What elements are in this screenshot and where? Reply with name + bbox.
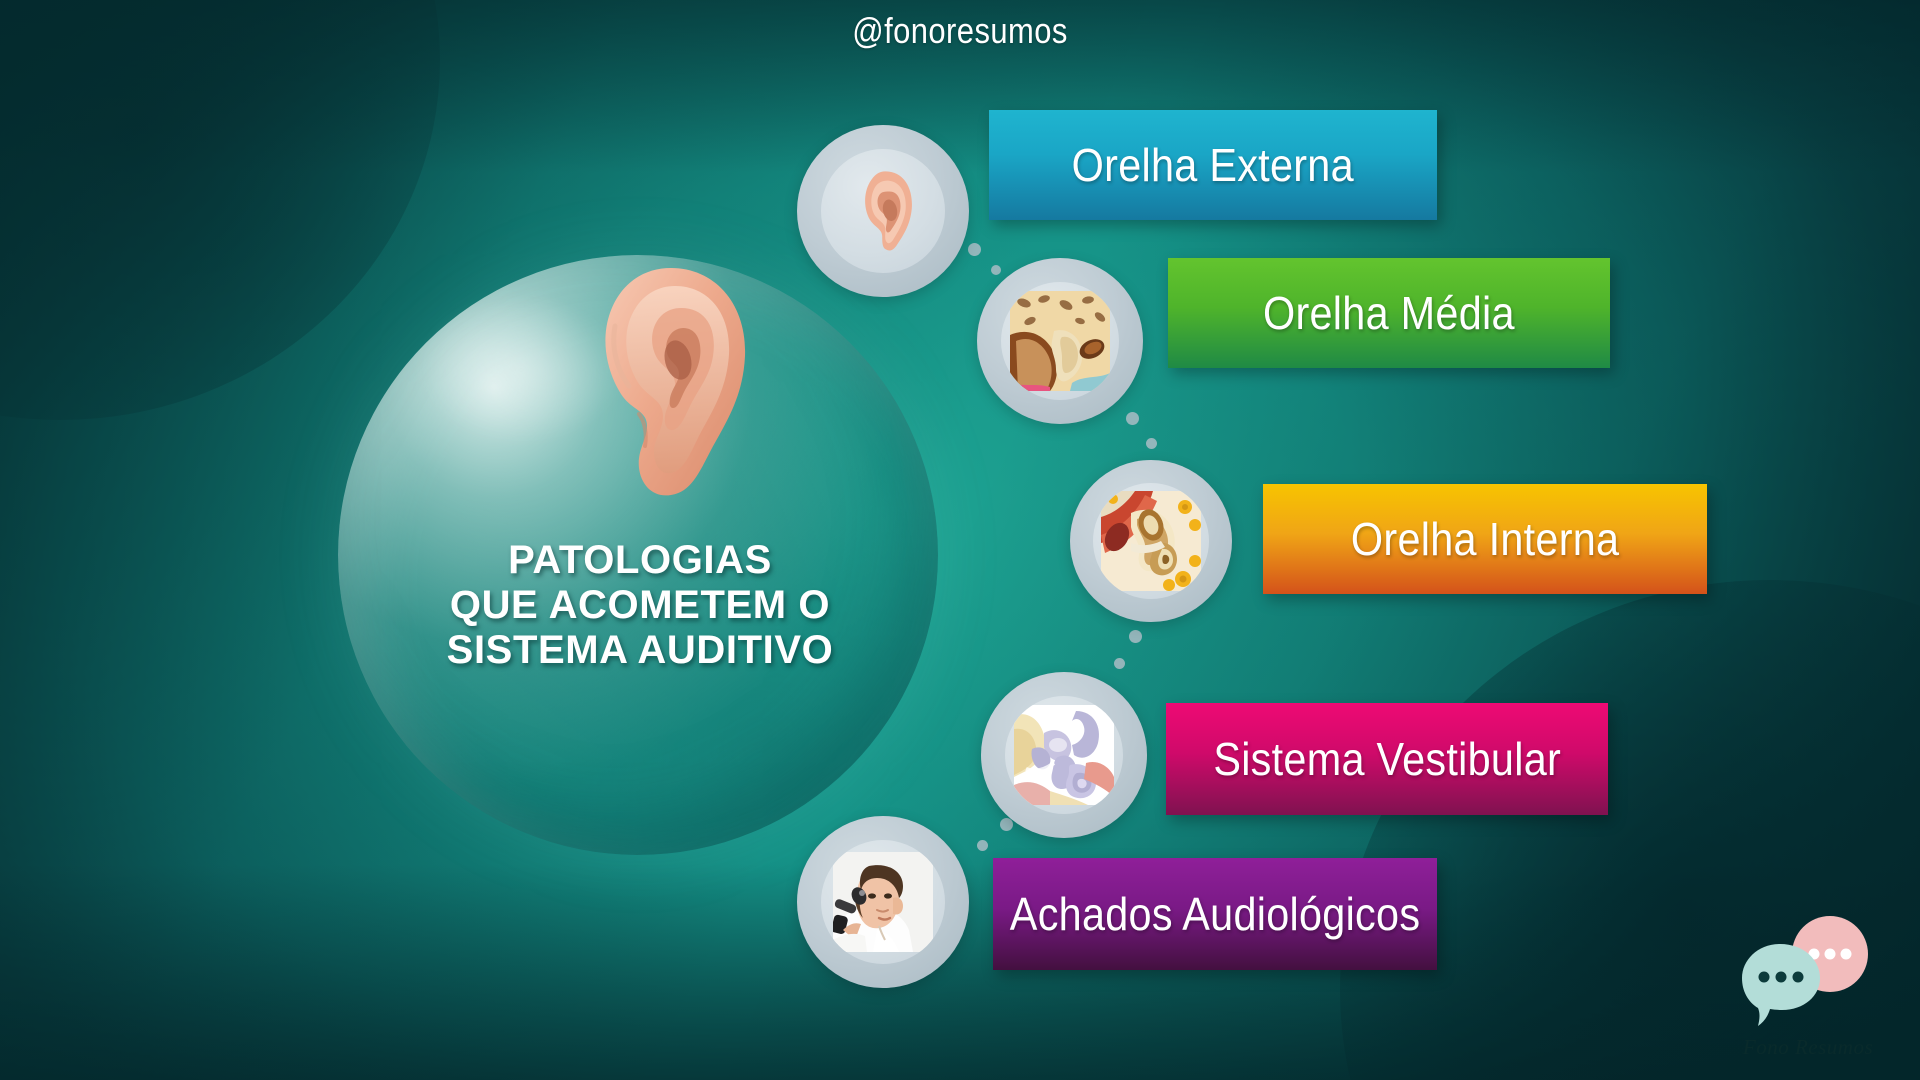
account-handle: @fonoresumos [134, 10, 1785, 52]
icon-bubble-orelha-externa[interactable] [797, 125, 969, 297]
connector-dot [991, 265, 1001, 275]
connector-dot [1146, 438, 1157, 449]
page-title-line-3: SISTEMA AUDITIVO [330, 628, 950, 673]
connector-dot [1129, 630, 1142, 643]
connector-dot [1126, 412, 1139, 425]
label-text-orelha-externa: Orelha Externa [1072, 138, 1354, 192]
icon-bubble-achados-audiologicos[interactable] [797, 816, 969, 988]
icon-bubble-sistema-vestibular[interactable] [981, 672, 1147, 838]
icon-bubble-orelha-interna[interactable] [1070, 460, 1232, 622]
icon-bubble-orelha-media[interactable] [977, 258, 1143, 424]
infographic-canvas: @fonoresumos [0, 0, 1920, 1080]
vestibular-labyrinth-icon [1005, 696, 1123, 814]
connector-dot [968, 243, 981, 256]
page-title-line-2: QUE ACOMETEM O [330, 583, 950, 628]
label-banner-sistema-vestibular[interactable]: Sistema Vestibular [1166, 703, 1608, 815]
label-banner-orelha-interna[interactable]: Orelha Interna [1263, 484, 1707, 594]
brand-name: Fono Resumos [1720, 1035, 1896, 1060]
brand-logo[interactable]: Fono Resumos [1720, 914, 1896, 1064]
otoscopy-exam-photo-icon [821, 840, 945, 964]
outer-ear-illustration [575, 264, 755, 499]
label-banner-orelha-externa[interactable]: Orelha Externa [989, 110, 1437, 220]
page-title: PATOLOGIAS QUE ACOMETEM O SISTEMA AUDITI… [330, 538, 950, 674]
label-banner-achados-audiologicos[interactable]: Achados Audiológicos [993, 858, 1437, 970]
inner-ear-cochlea-icon [1093, 483, 1209, 599]
page-title-line-1: PATOLOGIAS [330, 538, 950, 583]
connector-dot [977, 840, 988, 851]
label-banner-orelha-media[interactable]: Orelha Média [1168, 258, 1610, 368]
outer-ear-icon [821, 149, 945, 273]
connector-dot [1000, 818, 1013, 831]
label-text-achados-audiologicos: Achados Audiológicos [1010, 887, 1420, 941]
label-text-sistema-vestibular: Sistema Vestibular [1213, 732, 1561, 786]
label-text-orelha-interna: Orelha Interna [1351, 512, 1619, 566]
label-text-orelha-media: Orelha Média [1263, 286, 1515, 340]
speech-bubbles-logo [1720, 914, 1896, 1034]
connector-dot [1114, 658, 1125, 669]
middle-ear-anatomy-icon [1001, 282, 1119, 400]
